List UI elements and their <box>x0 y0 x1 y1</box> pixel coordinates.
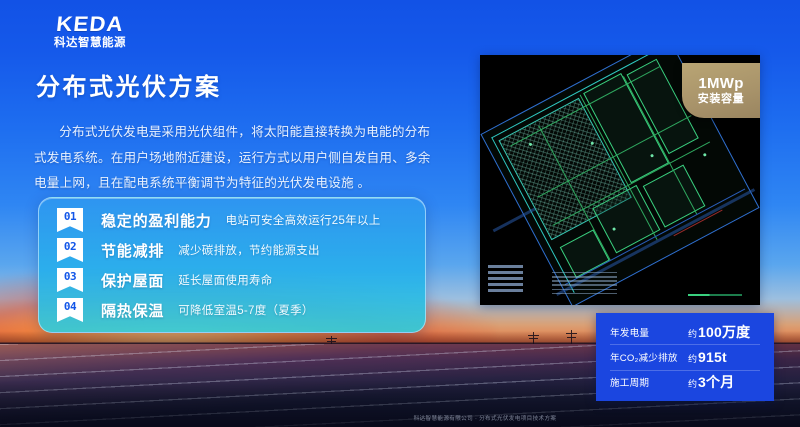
cad-site-plan-image: 1MWp 安装容量 <box>480 55 760 305</box>
feature-item-01: 01 稳定的盈利能力 电站可安全高效运行25年以上 <box>57 207 381 233</box>
feature-item-04: 04 隔热保温 可降低室温5-7度（夏季） <box>57 297 314 323</box>
stat-row: 施工周期 约 3个月 <box>610 370 760 395</box>
feature-number: 02 <box>64 241 76 252</box>
stat-prefix: 约 <box>688 327 697 340</box>
cad-scale-bar <box>688 294 742 296</box>
feature-description: 可降低室温5-7度（夏季） <box>178 302 314 318</box>
brand-logo-name: 科达智慧能源 <box>30 38 150 50</box>
stat-row: 年CO₂减少排放 约 915t <box>610 344 760 369</box>
stat-value: 约 100万度 <box>688 322 750 342</box>
stat-prefix: 约 <box>688 352 697 365</box>
feature-title: 稳定的盈利能力 <box>101 210 212 231</box>
feature-description: 电站可安全高效运行25年以上 <box>226 212 381 228</box>
stats-panel: 年发电量 约 100万度 年CO₂减少排放 约 915t 施工周期 约 3个月 <box>596 313 774 401</box>
stat-value: 约 3个月 <box>688 372 734 392</box>
capacity-value: 1MWp <box>698 75 743 92</box>
stat-number: 100万度 <box>698 322 750 342</box>
stat-label: 施工周期 <box>610 375 688 389</box>
features-panel: 01 稳定的盈利能力 电站可安全高效运行25年以上 02 节能减排 减少碳排放，… <box>38 197 426 333</box>
ribbon-badge-icon: 03 <box>57 268 83 292</box>
feature-number: 03 <box>64 271 76 282</box>
capacity-badge: 1MWp 安装容量 <box>682 63 760 118</box>
stat-number: 915t <box>698 349 727 365</box>
cad-legend <box>488 265 546 295</box>
stat-value: 约 915t <box>688 349 727 365</box>
intro-paragraph: 分布式光伏发电是采用光伏组件，将太阳能直接转换为电能的分布式发电系统。在用户场地… <box>34 120 434 197</box>
feature-title: 保护屋面 <box>101 270 164 291</box>
feature-item-03: 03 保护屋面 延长屋面使用寿命 <box>57 267 273 293</box>
stat-label: 年CO₂减少排放 <box>610 350 688 364</box>
feature-description: 减少碳排放，节约能源支出 <box>178 242 320 258</box>
stat-prefix: 约 <box>688 377 697 390</box>
capacity-caption: 安装容量 <box>698 93 744 106</box>
feature-description: 延长屋面使用寿命 <box>178 272 272 288</box>
stat-row: 年发电量 约 100万度 <box>610 319 760 344</box>
slide-root: KEDA 科达智慧能源 分布式光伏方案 分布式光伏发电是采用光伏组件，将太阳能直… <box>0 0 800 427</box>
brand-logo: KEDA 科达智慧能源 <box>30 14 150 50</box>
brand-logo-mark: KEDA <box>25 14 154 35</box>
stat-label: 年发电量 <box>610 325 688 339</box>
ribbon-badge-icon: 02 <box>57 238 83 262</box>
feature-item-02: 02 节能减排 减少碳排放，节约能源支出 <box>57 237 320 263</box>
feature-title: 隔热保温 <box>101 300 164 321</box>
footer-note: 科达智慧能源有限公司 · 分布式光伏发电项目技术方案 <box>0 414 800 422</box>
feature-number: 01 <box>64 211 76 222</box>
page-title: 分布式光伏方案 <box>36 76 222 100</box>
feature-number: 04 <box>64 301 76 312</box>
ribbon-badge-icon: 01 <box>57 208 83 232</box>
ribbon-badge-icon: 04 <box>57 298 83 322</box>
cad-notes-block <box>552 272 642 297</box>
feature-title: 节能减排 <box>101 240 164 261</box>
stat-number: 3个月 <box>698 372 734 392</box>
